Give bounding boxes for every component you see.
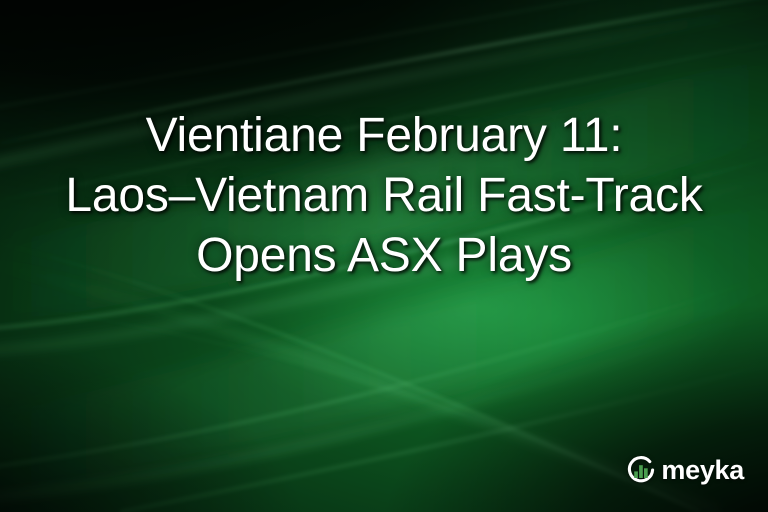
circular-bar-chart-icon: [625, 454, 657, 486]
brand-name: meyka: [661, 457, 744, 484]
brand-logo[interactable]: meyka: [625, 454, 744, 486]
page-title: Vientiane February 11: Laos–Vietnam Rail…: [0, 106, 768, 286]
headline-line-3: Opens ASX Plays: [8, 226, 760, 286]
slide-canvas: Vientiane February 11: Laos–Vietnam Rail…: [0, 0, 768, 512]
headline-line-2: Laos–Vietnam Rail Fast-Track: [8, 166, 760, 226]
headline-line-1: Vientiane February 11:: [8, 106, 760, 166]
